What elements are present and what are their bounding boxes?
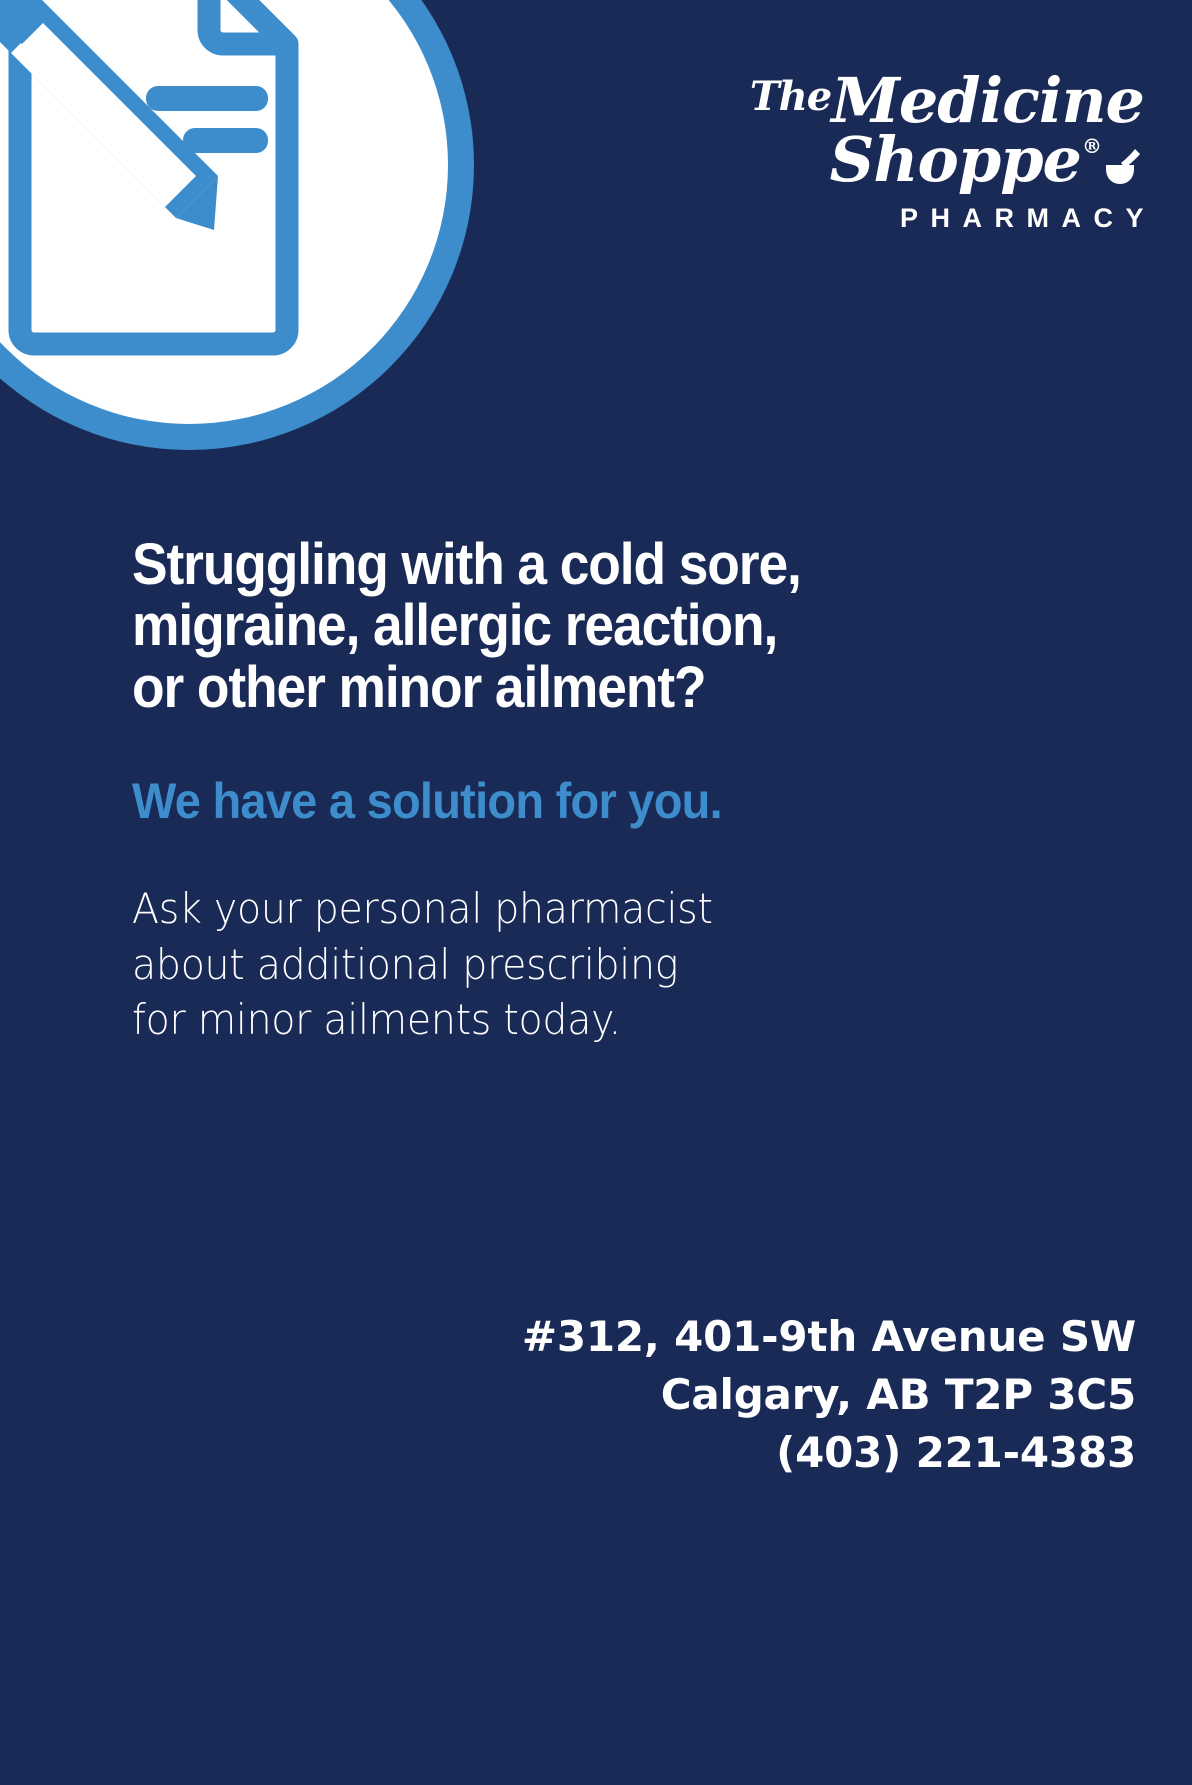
logo-line-shoppe: Shoppe® <box>742 129 1142 191</box>
body-line-2: about additional prescribing <box>132 937 912 992</box>
badge-ring <box>0 0 474 450</box>
address-block: #312, 401-9th Avenue SW Calgary, AB T2P … <box>522 1308 1136 1482</box>
address-city-postal: Calgary, AB T2P 3C5 <box>522 1366 1136 1424</box>
logo-line-medicine: TheMedicine <box>744 72 1144 129</box>
body-line-3: for minor ailments today. <box>132 992 912 1047</box>
subheadline: We have a solution for you. <box>132 774 912 829</box>
registered-trademark-icon: ® <box>1082 134 1101 158</box>
headline: Struggling with a cold sore, migraine, a… <box>132 534 896 718</box>
document-pencil-icon <box>0 0 398 358</box>
headline-line-2: migraine, allergic reaction, <box>132 595 896 656</box>
logo-the-word: The <box>750 73 831 120</box>
brand-logo: TheMedicine Shoppe® PHARMACY <box>744 72 1144 234</box>
address-phone[interactable]: (403) 221-4383 <box>522 1424 1136 1482</box>
headline-line-3: or other minor ailment? <box>132 657 896 718</box>
headline-line-1: Struggling with a cold sore, <box>132 534 896 595</box>
logo-shoppe-word: Shoppe <box>830 123 1081 196</box>
body-copy: Ask your personal pharmacist about addit… <box>132 881 912 1047</box>
mortar-and-pestle-icon <box>1102 147 1142 187</box>
copy-block: Struggling with a cold sore, migraine, a… <box>132 534 962 1048</box>
body-line-1: Ask your personal pharmacist <box>132 881 912 936</box>
poster-canvas: TheMedicine Shoppe® PHARMACY Struggling … <box>0 0 1192 1785</box>
address-street: #312, 401-9th Avenue SW <box>522 1308 1136 1366</box>
logo-pharmacy-tagline: PHARMACY <box>744 203 1156 234</box>
